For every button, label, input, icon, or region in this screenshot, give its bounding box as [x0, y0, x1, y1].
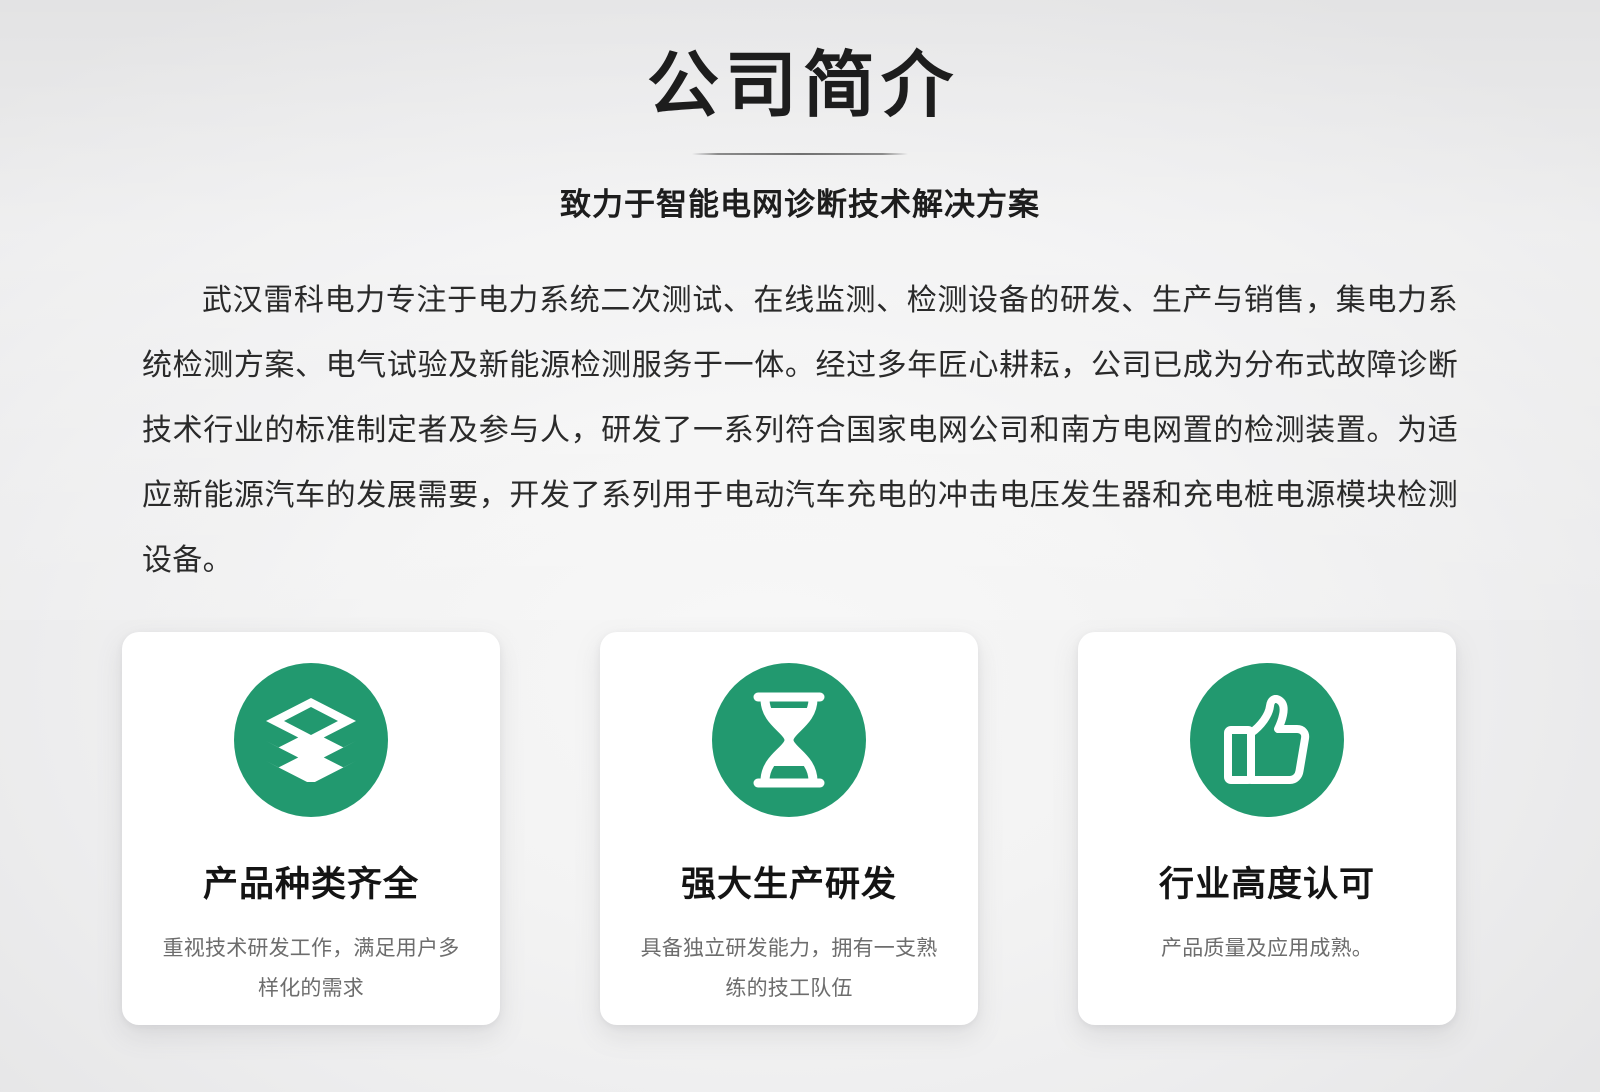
feature-card-title: 强大生产研发	[681, 866, 897, 905]
feature-card[interactable]: 产品种类齐全 重视技术研发工作，满足用户多样化的需求	[122, 632, 500, 1025]
page-subtitle: 致力于智能电网诊断技术解决方案	[0, 179, 1600, 224]
feature-card-description: 产品质量及应用成熟。	[1117, 929, 1417, 969]
feature-card-description: 重视技术研发工作，满足用户多样化的需求	[161, 929, 461, 1009]
page-header: 公司简介 致力于智能电网诊断技术解决方案	[0, 0, 1600, 224]
feature-card-title: 行业高度认可	[1159, 866, 1375, 905]
page-title: 公司简介	[0, 46, 1600, 127]
feature-card[interactable]: 行业高度认可 产品质量及应用成熟。	[1078, 632, 1456, 1025]
feature-card-title: 产品种类齐全	[203, 866, 419, 905]
feature-card[interactable]: 强大生产研发 具备独立研发能力，拥有一支熟练的技工队伍	[600, 632, 978, 1025]
company-profile-page: 公司简介 致力于智能电网诊断技术解决方案 武汉雷科电力专注于电力系统二次测试、在…	[0, 0, 1600, 1092]
thumbs-up-icon	[1190, 663, 1344, 817]
layers-icon	[234, 663, 388, 817]
company-intro-paragraph: 武汉雷科电力专注于电力系统二次测试、在线监测、检测设备的研发、生产与销售，集电力…	[142, 268, 1458, 593]
feature-card-list: 产品种类齐全 重视技术研发工作，满足用户多样化的需求 强大生产研发 具备独立	[122, 632, 1456, 1025]
title-divider	[692, 153, 908, 155]
hourglass-icon	[712, 663, 866, 817]
feature-card-description: 具备独立研发能力，拥有一支熟练的技工队伍	[639, 929, 939, 1009]
